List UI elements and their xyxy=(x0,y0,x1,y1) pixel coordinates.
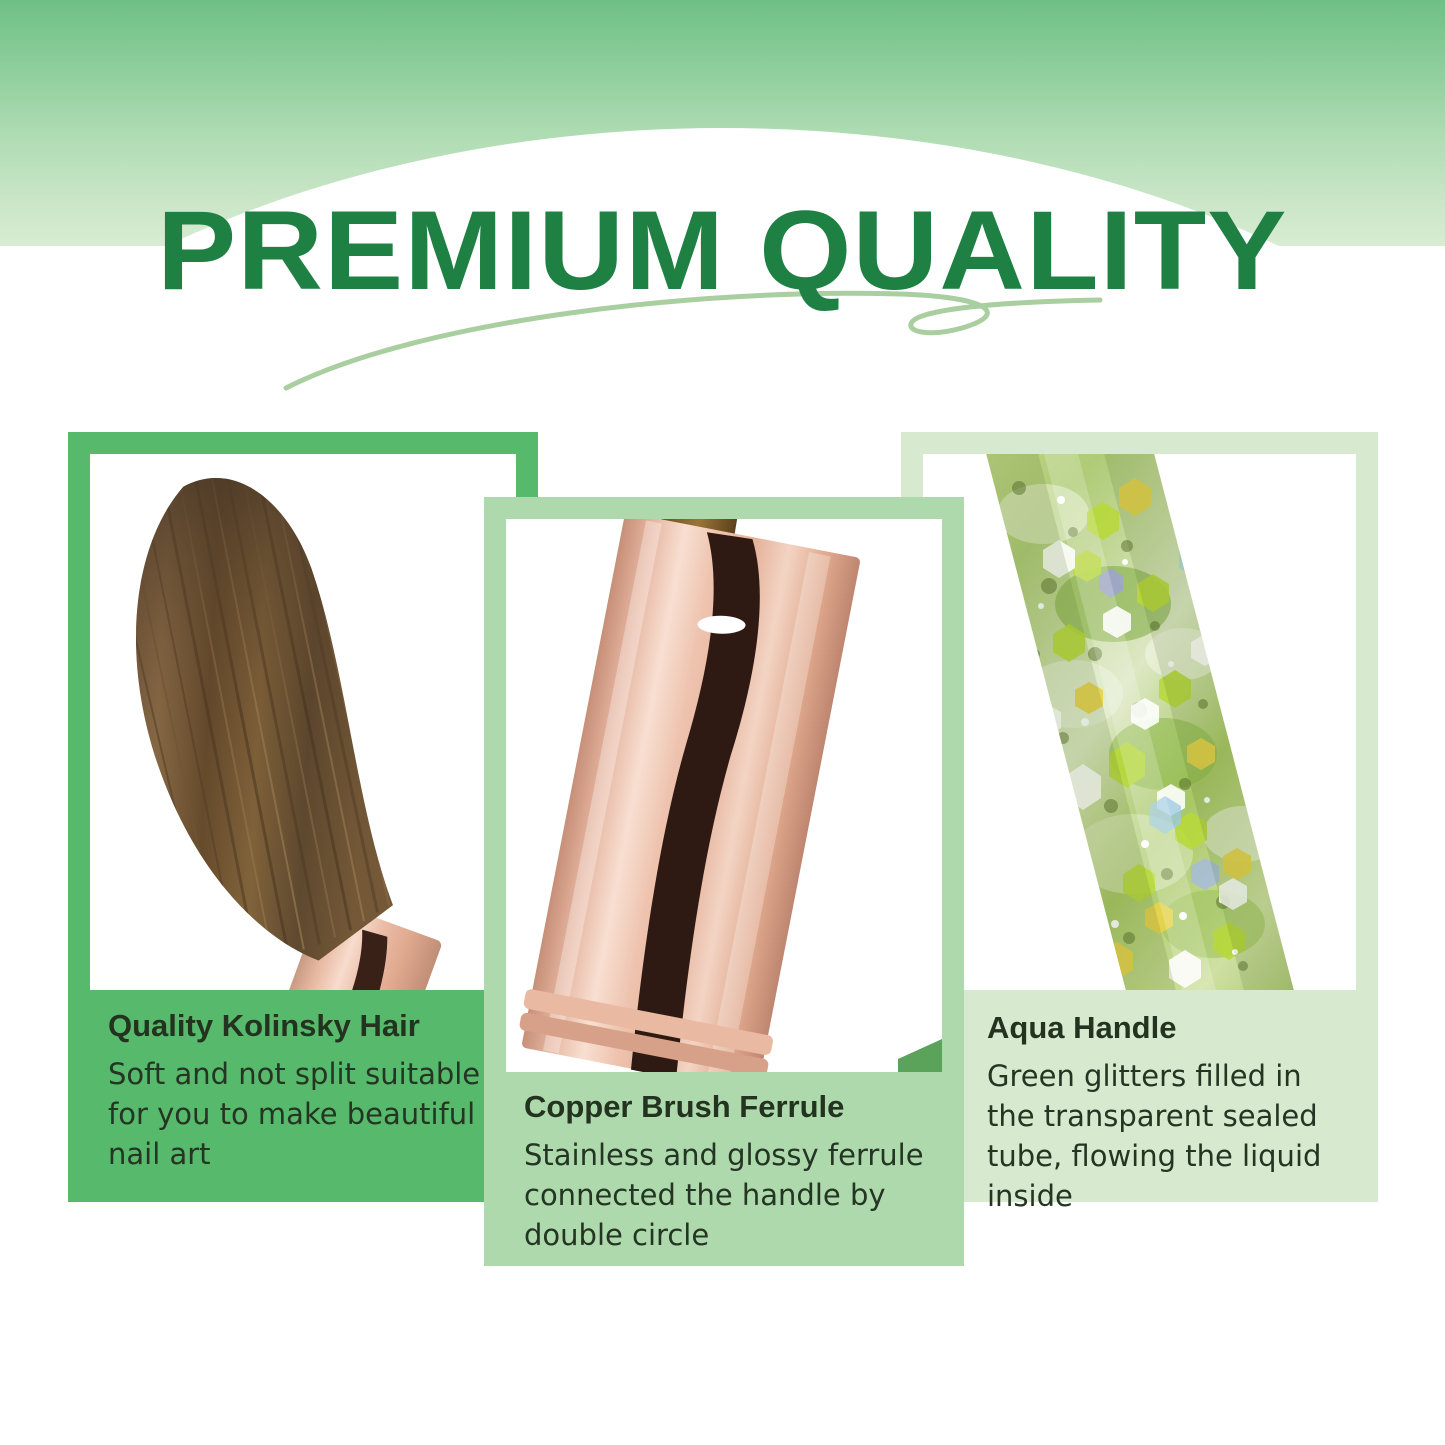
card-heading: Copper Brush Ferrule xyxy=(524,1089,942,1125)
card-text-block: Quality Kolinsky Hair Soft and not split… xyxy=(90,1008,516,1174)
card-body: Soft and not split suitable for you to m… xyxy=(108,1054,508,1174)
feature-card-aqua-handle: Aqua Handle Green glitters filled in the… xyxy=(901,432,1378,1202)
card-text-block: Aqua Handle Green glitters filled in the… xyxy=(987,1010,1357,1216)
card-heading: Aqua Handle xyxy=(987,1010,1357,1046)
copper-ferrule-photo xyxy=(506,519,942,1072)
rose-gold-ferrule-illustration xyxy=(506,519,942,1072)
card-body: Green glitters filled in the transparent… xyxy=(987,1056,1357,1216)
aqua-handle-photo xyxy=(923,454,1356,990)
kolinsky-hair-photo xyxy=(90,454,516,990)
green-glitter-handle-illustration xyxy=(923,454,1356,990)
page-title: PREMIUM QUALITY xyxy=(157,196,1288,306)
card-text-block: Copper Brush Ferrule Stainless and gloss… xyxy=(506,1089,942,1255)
kolinsky-brush-head-illustration xyxy=(90,454,516,990)
card-body: Stainless and glossy ferrule connected t… xyxy=(524,1135,924,1255)
feature-card-copper-ferrule: Copper Brush Ferrule Stainless and gloss… xyxy=(484,497,964,1266)
page-title-container: PREMIUM QUALITY xyxy=(0,196,1445,336)
card-heading: Quality Kolinsky Hair xyxy=(108,1008,516,1044)
feature-card-kolinsky-hair: Quality Kolinsky Hair Soft and not split… xyxy=(68,432,538,1202)
